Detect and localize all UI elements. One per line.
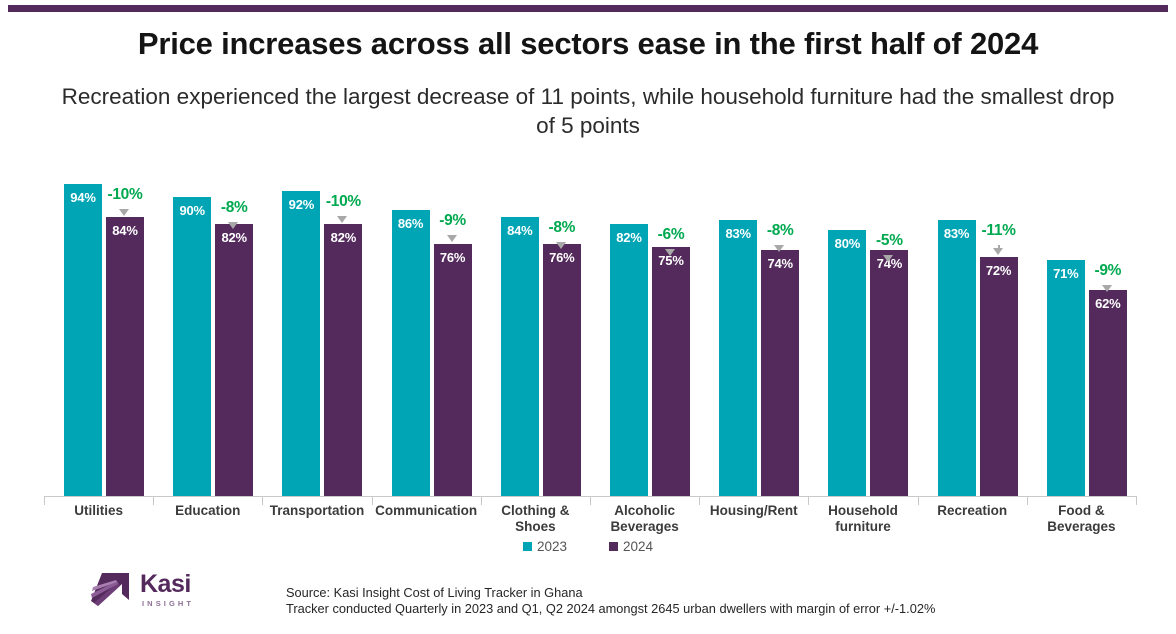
bar-chart-plot: 94%84%-10%90%82%-8%92%82%-10%86%76%-9%84… — [44, 160, 1136, 496]
logo-subtitle: INSIGHT — [142, 600, 194, 608]
delta-arrow-head-icon — [337, 216, 347, 223]
bar-value-2024: 76% — [543, 250, 581, 265]
category-label: Utilities — [44, 503, 153, 519]
delta-arrow-head-icon — [1102, 285, 1112, 292]
page-title: Price increases across all sectors ease … — [0, 26, 1176, 62]
logo-name: Kasi — [140, 572, 194, 597]
category-label: Clothing & Shoes — [481, 503, 590, 535]
top-accent-bar — [8, 5, 1168, 12]
bar-2023[interactable]: 83% — [719, 220, 757, 496]
delta-label: -8% — [531, 219, 593, 237]
bar-group: 82%75%-6% — [590, 160, 699, 496]
bar-2023[interactable]: 94% — [64, 184, 102, 496]
bar-2023[interactable]: 90% — [173, 197, 211, 496]
legend-item[interactable]: 2023 — [523, 539, 567, 554]
delta-label: -10% — [312, 193, 374, 211]
legend-swatch-icon — [523, 542, 532, 551]
bar-group: 80%74%-5% — [808, 160, 917, 496]
bar-2024[interactable]: 82% — [324, 224, 362, 496]
bar-2023[interactable]: 92% — [282, 191, 320, 496]
bar-2024[interactable]: 84% — [106, 217, 144, 496]
bar-group: 83%74%-8% — [699, 160, 808, 496]
delta-arrow-head-icon — [774, 245, 784, 252]
delta-arrow-head-icon — [228, 222, 238, 229]
arrow-swoosh-icon — [88, 570, 132, 610]
bar-value-2024: 82% — [324, 230, 362, 245]
bar-2024[interactable]: 72% — [980, 257, 1018, 496]
bar-2024[interactable]: 76% — [434, 244, 472, 496]
bar-value-2024: 84% — [106, 223, 144, 238]
delta-label: -9% — [1077, 262, 1139, 280]
delta-arrow-head-icon — [447, 235, 457, 242]
bar-2023[interactable]: 84% — [501, 217, 539, 496]
category-label: Housing/Rent — [699, 503, 808, 519]
bar-value-2024: 72% — [980, 263, 1018, 278]
bar-2023[interactable]: 83% — [938, 220, 976, 496]
bar-group: 71%62%-9% — [1027, 160, 1136, 496]
bar-2023[interactable]: 80% — [828, 230, 866, 496]
bar-2024[interactable]: 76% — [543, 244, 581, 496]
source-line-1: Source: Kasi Insight Cost of Living Trac… — [286, 585, 935, 601]
bar-group: 86%76%-9% — [372, 160, 481, 496]
bar-group: 92%82%-10% — [262, 160, 371, 496]
logo-wordmark: Kasi INSIGHT — [140, 572, 194, 608]
source-note: Source: Kasi Insight Cost of Living Trac… — [286, 585, 935, 617]
delta-label: -5% — [858, 232, 920, 250]
delta-arrow-head-icon — [119, 209, 129, 216]
axis-tick — [1136, 496, 1137, 505]
delta-arrow-head-icon — [556, 242, 566, 249]
page-subtitle: Recreation experienced the largest decre… — [60, 82, 1116, 140]
bar-2024[interactable]: 82% — [215, 224, 253, 496]
delta-arrow-head-icon — [665, 249, 675, 256]
legend-item[interactable]: 2024 — [609, 539, 653, 554]
category-label: Alcoholic Beverages — [590, 503, 699, 535]
category-label: Household furniture — [808, 503, 917, 535]
bar-2023[interactable]: 86% — [392, 210, 430, 496]
bar-group: 90%82%-8% — [153, 160, 262, 496]
legend-swatch-icon — [609, 542, 618, 551]
bar-group: 84%76%-8% — [481, 160, 590, 496]
delta-label: -6% — [640, 226, 702, 244]
bar-2024[interactable]: 62% — [1089, 290, 1127, 496]
bar-2023[interactable]: 82% — [610, 224, 648, 496]
legend-label: 2023 — [537, 539, 567, 554]
bar-value-2024: 82% — [215, 230, 253, 245]
chart-page: Price increases across all sectors ease … — [0, 0, 1176, 634]
delta-label: -9% — [422, 212, 484, 230]
bar-value-2024: 76% — [434, 250, 472, 265]
kasi-logo: Kasi INSIGHT — [88, 570, 194, 610]
bar-2024[interactable]: 74% — [761, 250, 799, 496]
delta-arrow-head-icon — [883, 255, 893, 262]
delta-label: -8% — [203, 199, 265, 217]
bar-2023[interactable]: 71% — [1047, 260, 1085, 496]
bar-value-2024: 62% — [1089, 296, 1127, 311]
category-label: Communication — [372, 503, 481, 519]
bar-2024[interactable]: 75% — [652, 247, 690, 496]
delta-label: -8% — [749, 222, 811, 240]
chart-legend: 20232024 — [0, 539, 1176, 554]
delta-label: -11% — [968, 222, 1030, 240]
category-label: Education — [153, 503, 262, 519]
category-label: Food & Beverages — [1027, 503, 1136, 535]
delta-label: -10% — [94, 186, 156, 204]
bar-group: 94%84%-10% — [44, 160, 153, 496]
category-label: Recreation — [918, 503, 1027, 519]
bar-2024[interactable]: 74% — [870, 250, 908, 496]
delta-arrow-head-icon — [993, 248, 1003, 255]
bar-value-2024: 74% — [761, 256, 799, 271]
source-line-2: Tracker conducted Quarterly in 2023 and … — [286, 601, 935, 617]
category-label: Transportation — [262, 503, 371, 519]
legend-label: 2024 — [623, 539, 653, 554]
bar-group: 83%72%-11% — [918, 160, 1027, 496]
